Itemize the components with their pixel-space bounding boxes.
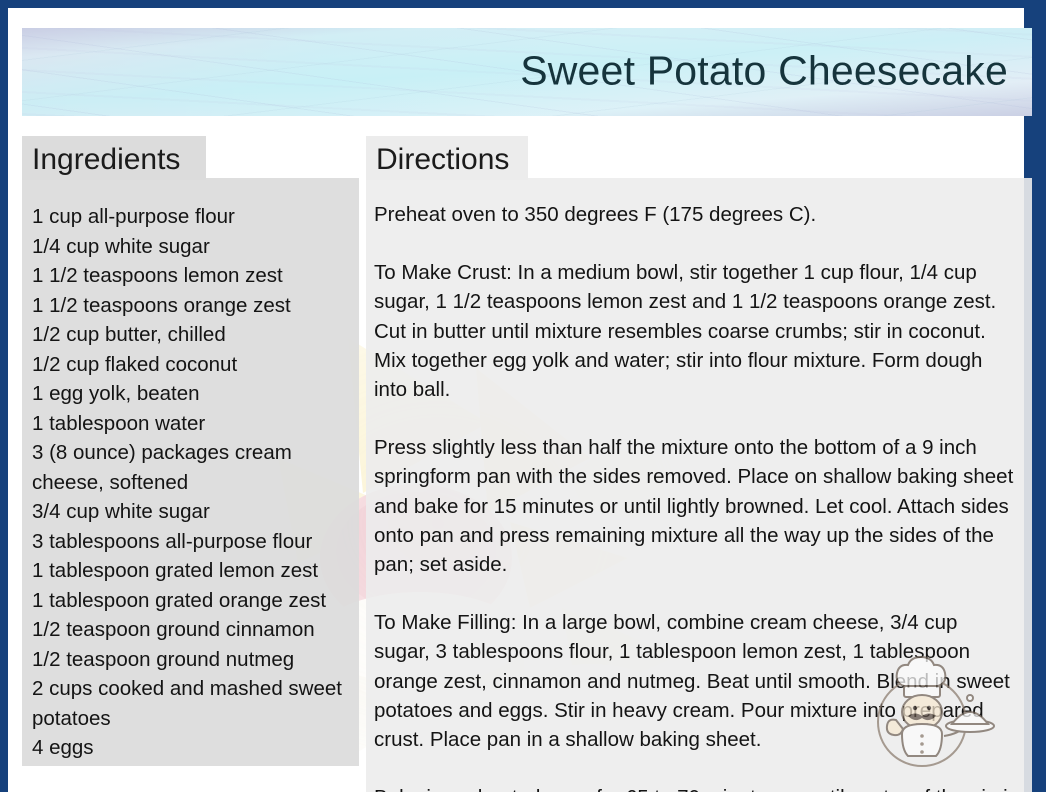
directions-panel: Preheat oven to 350 degrees F (175 degre…: [366, 178, 1032, 792]
ingredient-item: 1/2 cup butter, chilled: [32, 320, 349, 350]
direction-paragraph: To Make Filling: In a large bowl, combin…: [374, 608, 1018, 754]
card-inner-mat: Sweet Potato Cheesecake: [8, 8, 1024, 792]
ingredient-item: 4 eggs: [32, 733, 349, 763]
ingredient-item: 1/2 teaspoon ground cinnamon: [32, 615, 349, 645]
recipe-card: Sweet Potato Cheesecake: [0, 0, 1046, 792]
header-banner: Sweet Potato Cheesecake: [22, 28, 1032, 116]
ingredient-item: 1 tablespoon grated orange zest: [32, 586, 349, 616]
ingredients-heading: Ingredients: [22, 136, 206, 180]
directions-heading: Directions: [366, 136, 528, 180]
ingredient-item: 1 cup all-purpose flour: [32, 202, 349, 232]
ingredient-item: 1/4 cup white sugar: [32, 232, 349, 262]
ingredient-item: 3 tablespoons all-purpose flour: [32, 527, 349, 557]
ingredient-item: 1 1/2 teaspoons orange zest: [32, 291, 349, 321]
ingredient-item: 1 tablespoon grated lemon zest: [32, 556, 349, 586]
page-title: Sweet Potato Cheesecake: [520, 48, 1008, 95]
ingredient-item: 2 cups cooked and mashed sweet potatoes: [32, 674, 349, 733]
ingredient-item: 1 tablespoon water: [32, 409, 349, 439]
direction-paragraph: Preheat oven to 350 degrees F (175 degre…: [374, 200, 1018, 229]
ingredient-item: 3 (8 ounce) packages cream cheese, softe…: [32, 438, 349, 497]
ingredient-item: 1/2 cup flaked coconut: [32, 350, 349, 380]
direction-paragraph: Bake in preheated oven for 65 to 70 minu…: [374, 783, 1018, 792]
ingredient-item: 3/4 cup white sugar: [32, 497, 349, 527]
ingredient-item: 1/2 teaspoon ground nutmeg: [32, 645, 349, 675]
ingredient-item: 1/4 cup heavy cream: [32, 763, 349, 767]
direction-paragraph: To Make Crust: In a medium bowl, stir to…: [374, 258, 1018, 404]
ingredient-item: 1 1/2 teaspoons lemon zest: [32, 261, 349, 291]
direction-paragraph: Press slightly less than half the mixtur…: [374, 433, 1018, 579]
ingredient-item: 1 egg yolk, beaten: [32, 379, 349, 409]
ingredients-panel: 1 cup all-purpose flour 1/4 cup white su…: [22, 178, 359, 766]
